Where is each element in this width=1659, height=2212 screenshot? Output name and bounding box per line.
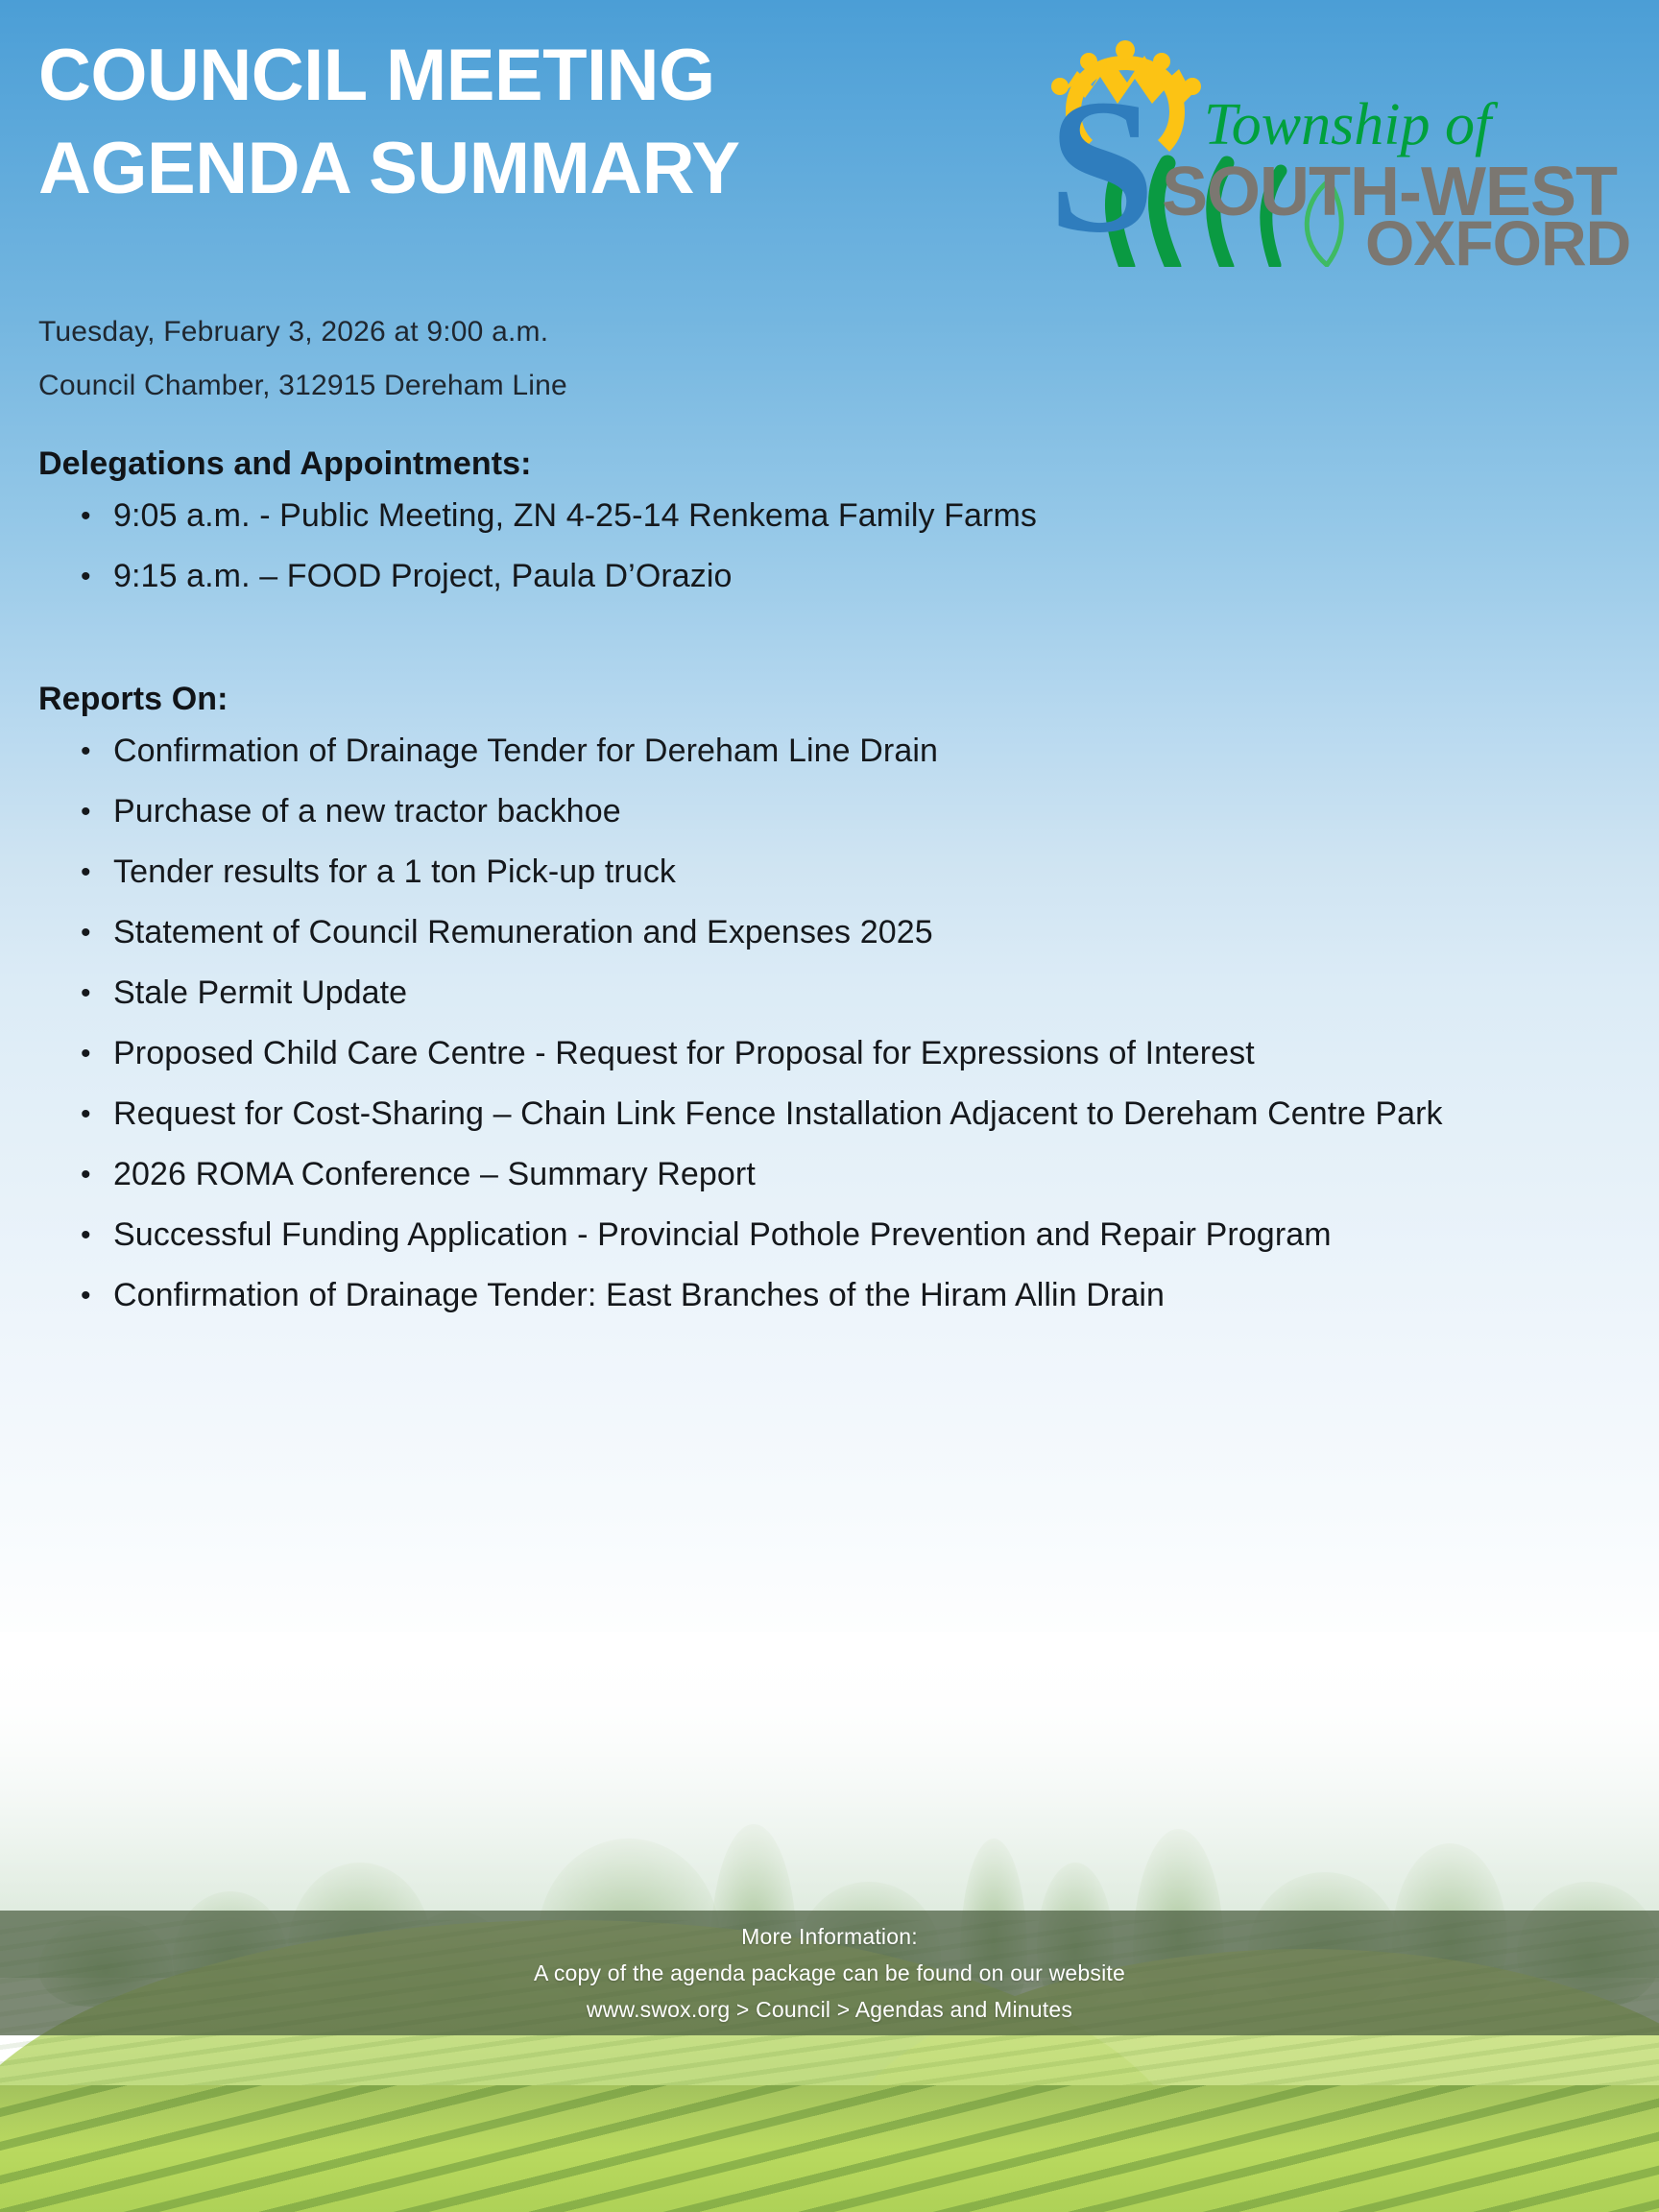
list-item-text: 2026 ROMA Conference – Summary Report: [113, 1156, 756, 1192]
list-item: Stale Permit Update: [113, 963, 1594, 1023]
list-item-text: Statement of Council Remuneration and Ex…: [113, 914, 933, 950]
list-item-text: Request for Cost-Sharing – Chain Link Fe…: [113, 1095, 1443, 1132]
list-item: Confirmation of Drainage Tender for Dere…: [113, 721, 1594, 781]
reports-list: Confirmation of Drainage Tender for Dere…: [38, 721, 1594, 1326]
meeting-datetime: Tuesday, February 3, 2026 at 9:00 a.m.: [38, 305, 1094, 359]
list-item-text: Successful Funding Application - Provinc…: [113, 1216, 1332, 1253]
section-delegations: Delegations and Appointments: 9:05 a.m. …: [38, 442, 1594, 607]
page-title: COUNCIL MEETING AGENDA SUMMARY: [38, 29, 998, 215]
meeting-meta: Tuesday, February 3, 2026 at 9:00 a.m. C…: [38, 305, 1094, 413]
footer-line-1: More Information:: [0, 1918, 1659, 1955]
list-item-text: Stale Permit Update: [113, 974, 407, 1011]
footer: More Information: A copy of the agenda p…: [0, 1918, 1659, 2028]
list-item: Successful Funding Application - Provinc…: [113, 1205, 1594, 1265]
list-item: 2026 ROMA Conference – Summary Report: [113, 1144, 1594, 1205]
list-item-text: Tender results for a 1 ton Pick-up truck: [113, 854, 676, 890]
section-heading-reports: Reports On:: [38, 677, 1594, 721]
list-item-text: 9:05 a.m. - Public Meeting, ZN 4-25-14 R…: [113, 497, 1037, 534]
list-item: Request for Cost-Sharing – Chain Link Fe…: [113, 1084, 1594, 1144]
list-item-text: 9:15 a.m. – FOOD Project, Paula D’Orazio: [113, 558, 733, 594]
logo-script-text: Township of: [1204, 92, 1499, 157]
meeting-location: Council Chamber, 312915 Dereham Line: [38, 359, 1094, 413]
logo-name-line2: OXFORD: [1365, 207, 1630, 267]
title-line-2: AGENDA SUMMARY: [38, 122, 998, 215]
section-heading-delegations: Delegations and Appointments:: [38, 442, 1594, 486]
list-item: Tender results for a 1 ton Pick-up truck: [113, 842, 1594, 902]
list-item: 9:15 a.m. – FOOD Project, Paula D’Orazio: [113, 546, 1594, 607]
agenda-poster: S Township of SOUTH-WEST OXFORD COUNCIL …: [0, 0, 1659, 2212]
list-item-text: Confirmation of Drainage Tender for Dere…: [113, 733, 938, 769]
title-line-1: COUNCIL MEETING: [38, 29, 998, 122]
delegations-list: 9:05 a.m. - Public Meeting, ZN 4-25-14 R…: [38, 486, 1594, 607]
township-logo: S Township of SOUTH-WEST OXFORD: [1039, 27, 1644, 267]
list-item: Proposed Child Care Centre - Request for…: [113, 1023, 1594, 1084]
monogram-s: S: [1048, 60, 1155, 267]
section-reports: Reports On: Confirmation of Drainage Ten…: [38, 677, 1594, 1326]
list-item: Confirmation of Drainage Tender: East Br…: [113, 1265, 1594, 1326]
list-item-text: Purchase of a new tractor backhoe: [113, 793, 621, 829]
field-shading: [0, 2085, 1659, 2212]
list-item-text: Proposed Child Care Centre - Request for…: [113, 1035, 1255, 1071]
footer-line-3: www.swox.org > Council > Agendas and Min…: [0, 1991, 1659, 2028]
list-item-text: Confirmation of Drainage Tender: East Br…: [113, 1277, 1165, 1313]
list-item: 9:05 a.m. - Public Meeting, ZN 4-25-14 R…: [113, 486, 1594, 546]
list-item: Purchase of a new tractor backhoe: [113, 781, 1594, 842]
list-item: Statement of Council Remuneration and Ex…: [113, 902, 1594, 963]
footer-line-2: A copy of the agenda package can be foun…: [0, 1955, 1659, 1991]
